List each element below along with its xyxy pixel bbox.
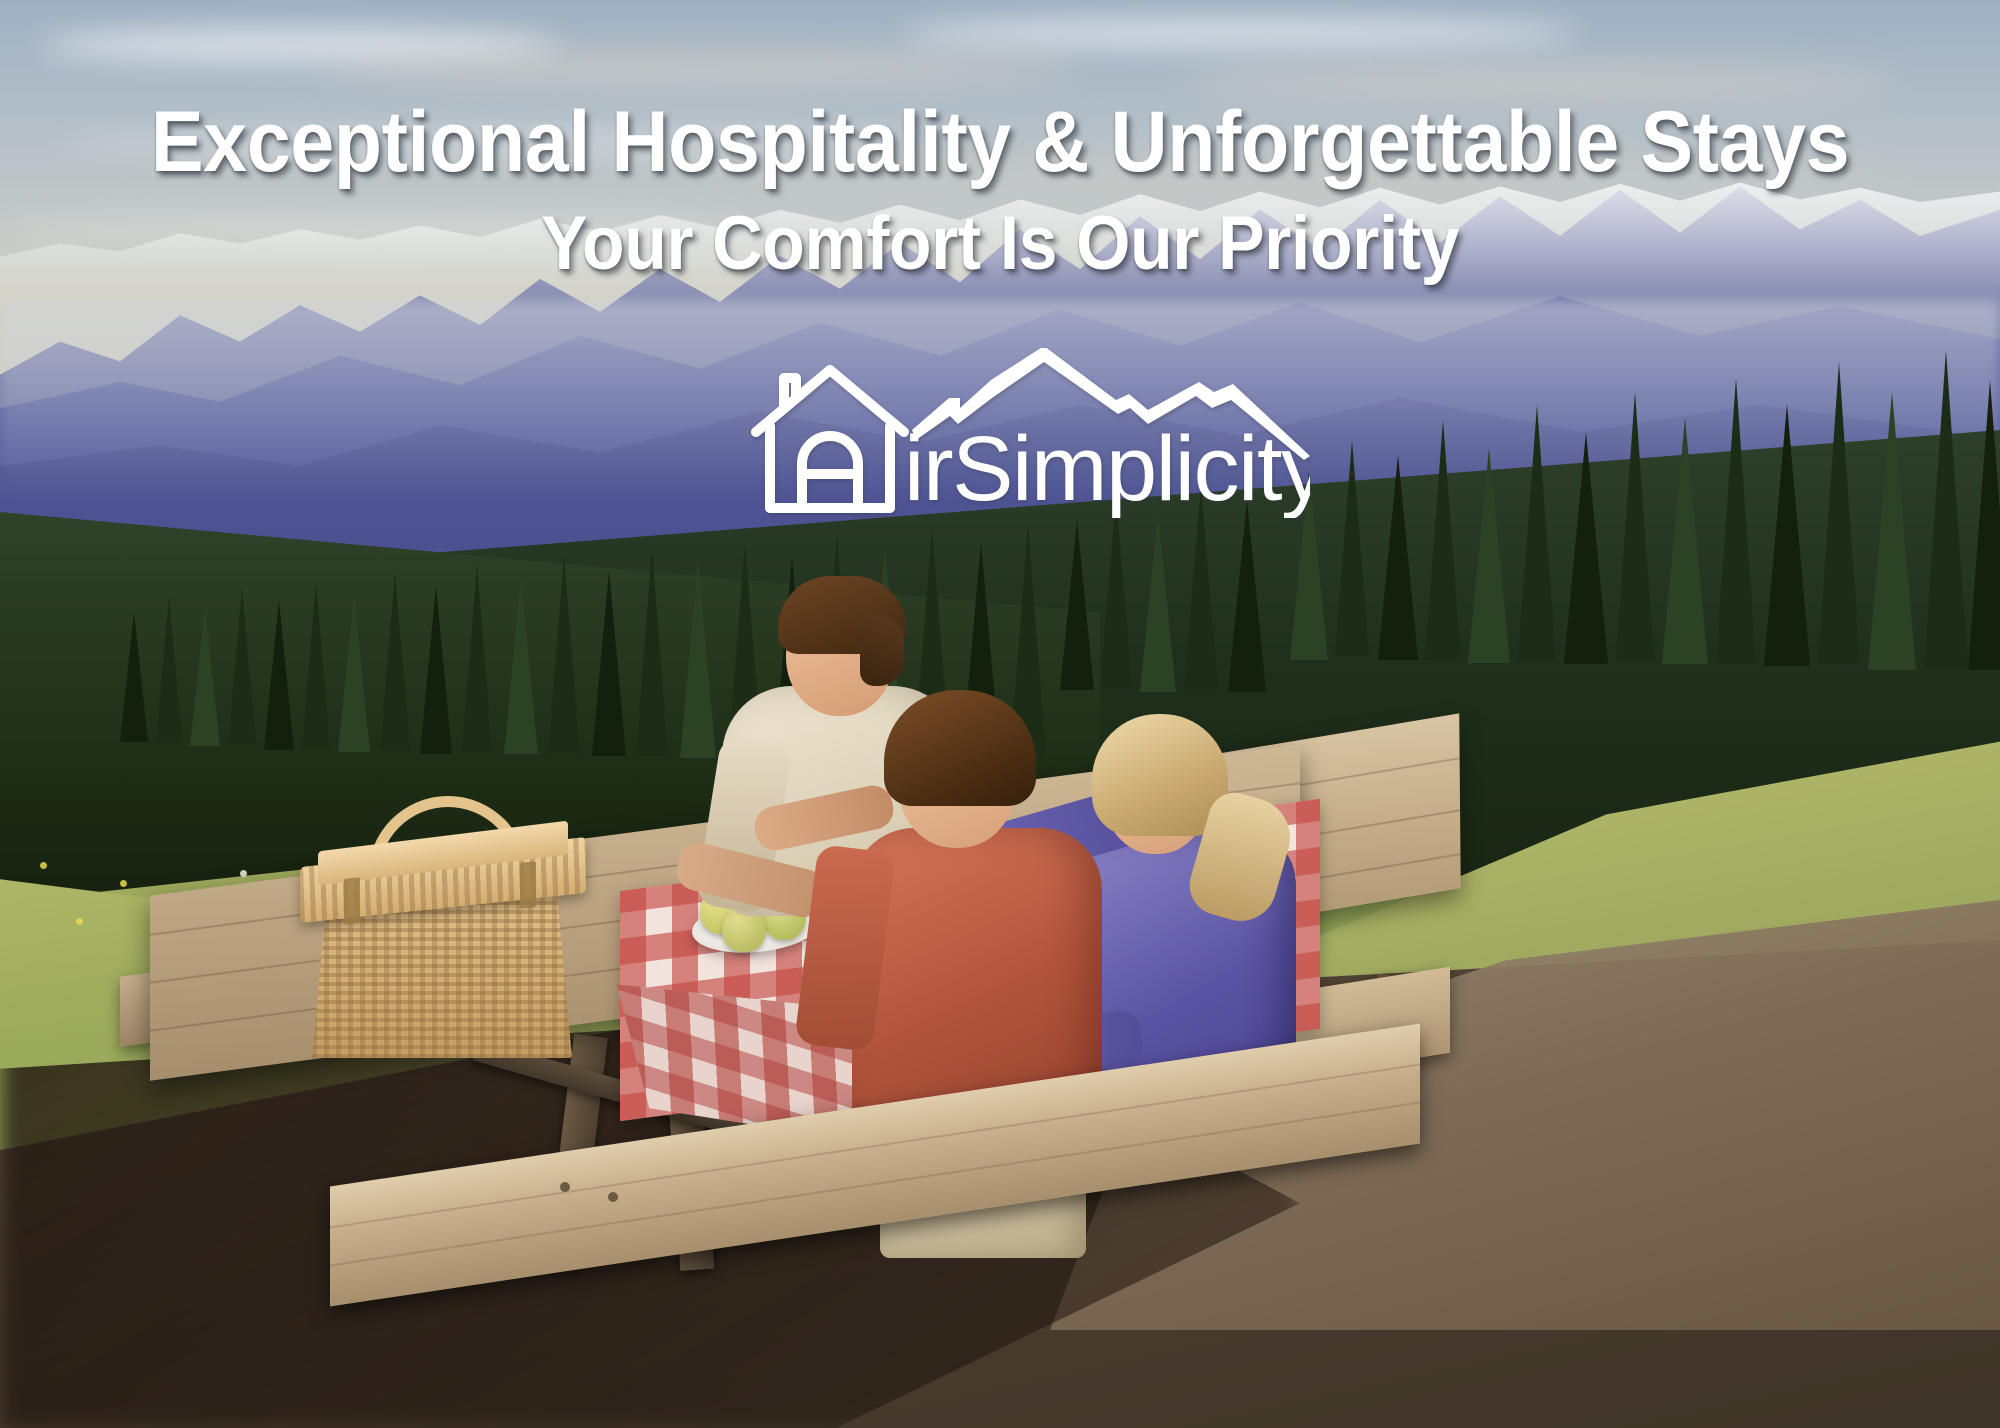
- bench-bolt: [560, 1182, 570, 1192]
- basket-strap: [344, 877, 360, 925]
- hero-banner: Exceptional Hospitality & Unforgettable …: [0, 0, 2000, 1428]
- boy-hair: [884, 690, 1036, 806]
- bench-bolt: [608, 1192, 618, 1202]
- basket-strap: [520, 861, 536, 909]
